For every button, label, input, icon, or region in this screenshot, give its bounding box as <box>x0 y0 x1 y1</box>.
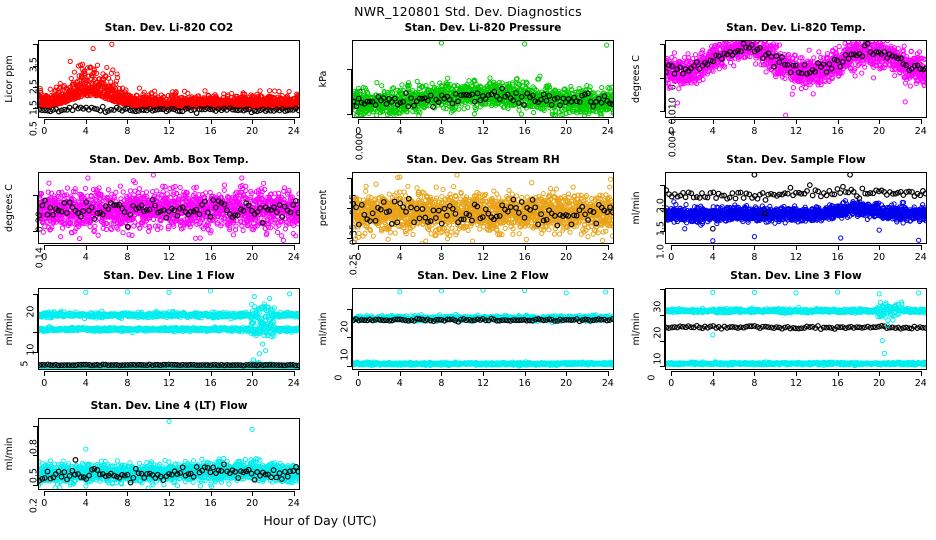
scatter-points <box>314 22 616 140</box>
panel-5: Stan. Dev. Gas Stream RHpercent0.250.350… <box>314 154 614 266</box>
figure-xaxis-label: Hour of Day (UTC) <box>0 513 640 528</box>
panel-4: Stan. Dev. Amb. Box Temp.degrees C0.140.… <box>0 154 300 266</box>
panel-6: Stan. Dev. Sample Flowml/min1.01.52.0048… <box>627 154 927 266</box>
panel-1: Stan. Dev. Li-820 CO2Licor ppm0.51.52.53… <box>0 22 300 140</box>
scatter-points <box>0 22 302 140</box>
panel-2: Stan. Dev. Li-820 PressurekPa0.0000.0150… <box>314 22 614 140</box>
scatter-points <box>627 270 929 392</box>
panel-8: Stan. Dev. Line 2 Flowml/min010200481216… <box>314 270 614 392</box>
panel-9: Stan. Dev. Line 3 Flowml/min010203004812… <box>627 270 927 392</box>
panel-7: Stan. Dev. Line 1 Flowml/min510200481216… <box>0 270 300 392</box>
panel-10: Stan. Dev. Line 4 (LT) Flowml/min0.20.50… <box>0 400 300 512</box>
scatter-points <box>0 154 302 266</box>
scatter-points <box>0 270 302 392</box>
panel-3: Stan. Dev. Li-820 Temp.degrees C0.0040.0… <box>627 22 927 140</box>
scatter-points <box>314 270 616 392</box>
scatter-points <box>0 400 302 512</box>
scatter-points <box>627 22 929 140</box>
figure-canvas: NWR_120801 Std. Dev. Diagnostics Hour of… <box>0 0 936 540</box>
scatter-points <box>314 154 616 266</box>
scatter-points <box>627 154 929 266</box>
figure-title: NWR_120801 Std. Dev. Diagnostics <box>0 4 936 19</box>
